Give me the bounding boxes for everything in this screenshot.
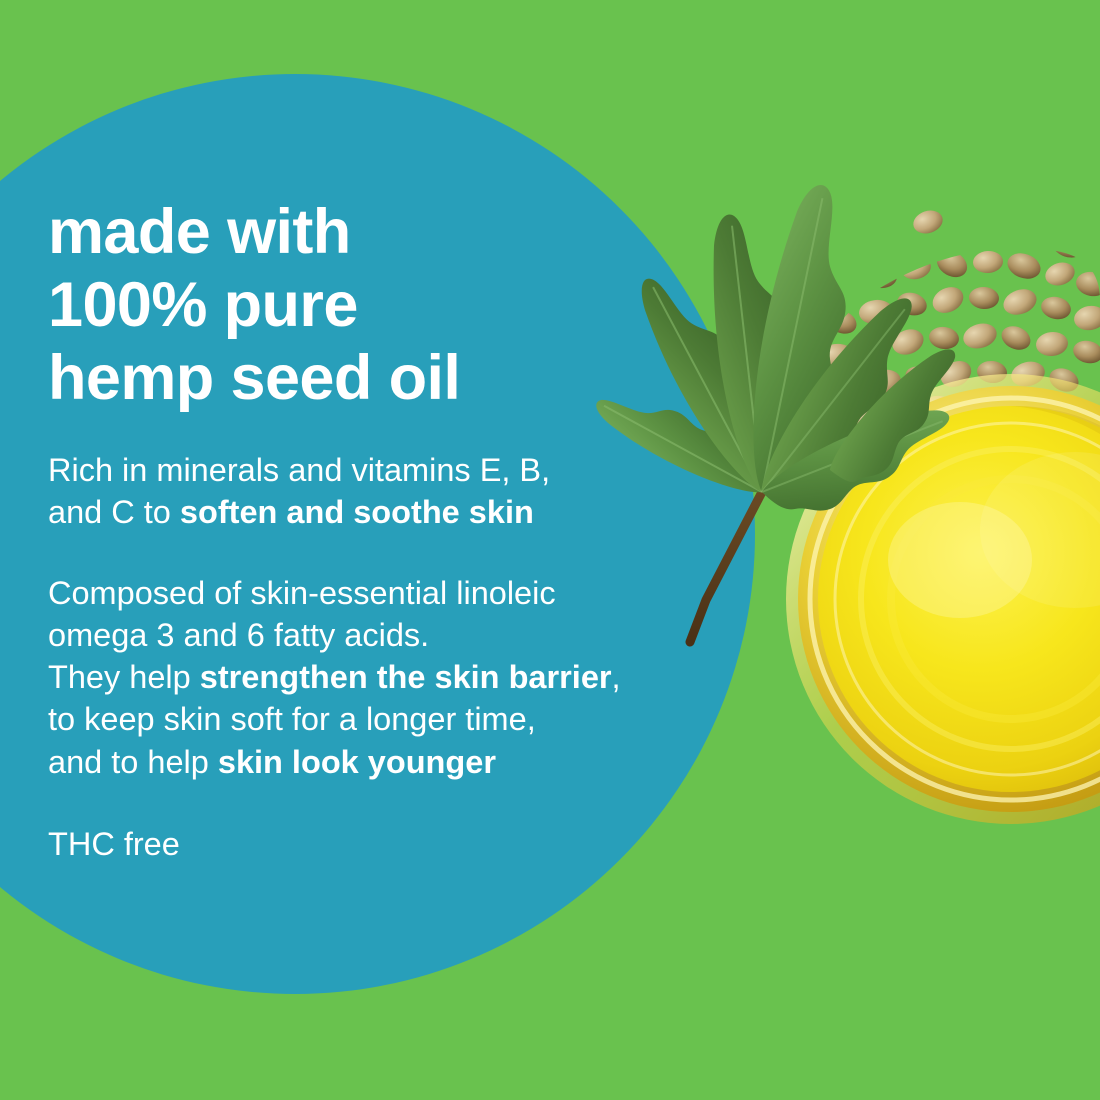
- benefit-paragraph-fatty-acids: Composed of skin-essential linoleic omeg…: [48, 572, 708, 783]
- hemp-seeds: [782, 213, 1100, 438]
- oil-bowl: [786, 374, 1100, 824]
- hemp-seed-stray: [784, 298, 820, 330]
- hemp-seed-stray: [910, 207, 945, 237]
- page-title: made with 100% pure hemp seed oil: [48, 196, 708, 415]
- benefit-paragraph-thc: THC free: [48, 823, 708, 865]
- copy-block: made with 100% pure hemp seed oil Rich i…: [48, 196, 708, 865]
- promo-graphic: made with 100% pure hemp seed oil Rich i…: [0, 0, 1100, 1100]
- benefit-paragraph-vitamins: Rich in minerals and vitamins E, B, and …: [48, 449, 708, 534]
